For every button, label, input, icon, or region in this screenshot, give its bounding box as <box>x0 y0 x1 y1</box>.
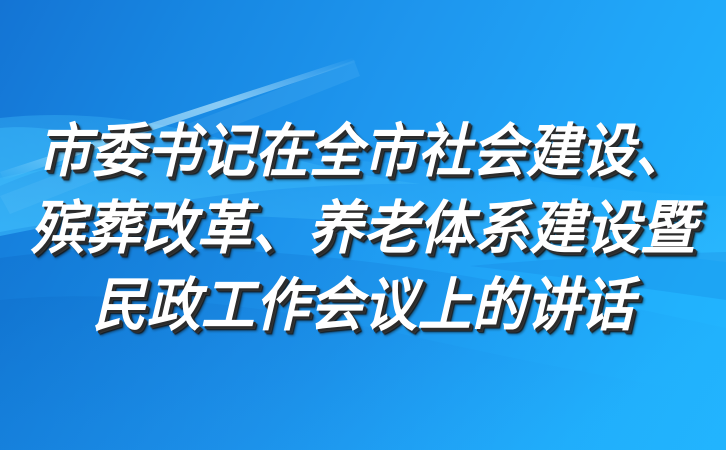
title-line-3: 民政工作会议上的讲话 <box>92 267 634 344</box>
poster-banner: 市委书记在全市社会建设、 殡葬改革、养老体系建设暨 民政工作会议上的讲话 <box>0 0 726 450</box>
title-line-2: 殡葬改革、养老体系建设暨 <box>30 190 696 267</box>
poster-title: 市委书记在全市社会建设、 殡葬改革、养老体系建设暨 民政工作会议上的讲话 <box>0 113 726 344</box>
title-line-1: 市委书记在全市社会建设、 <box>37 113 689 190</box>
